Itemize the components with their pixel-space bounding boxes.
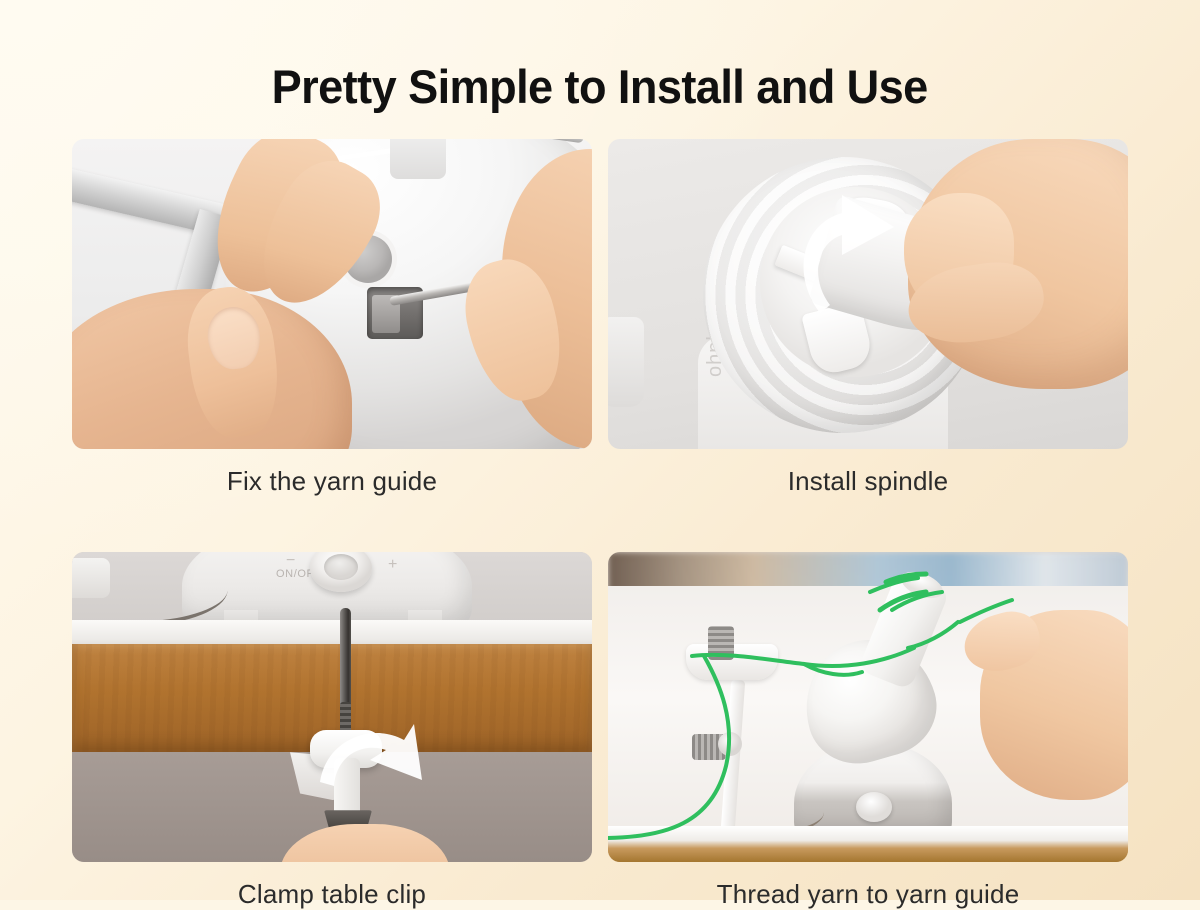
clamp-stem xyxy=(334,758,360,816)
table-surface xyxy=(608,826,1128,862)
steps-grid: Fix the yarn guide ohpho xyxy=(72,139,1128,910)
step-caption-1: Fix the yarn guide xyxy=(72,466,592,497)
step-card-2: ohpho Install spindle xyxy=(608,139,1128,497)
step-card-1: Fix the yarn guide xyxy=(72,139,592,497)
plus-label: + xyxy=(388,556,397,574)
yarn-guide-clip xyxy=(608,317,644,407)
photo-clamp-table-clip: − + ON/OFF xyxy=(72,552,592,862)
photo-install-spindle: ohpho xyxy=(608,139,1128,449)
speed-knob-inner xyxy=(324,554,358,580)
step-card-3: − + ON/OFF xyxy=(72,552,592,910)
yarn-guide-nut xyxy=(718,732,742,756)
photo-thread-yarn xyxy=(608,552,1128,862)
step-card-4: Thread yarn to yarn guide xyxy=(608,552,1128,910)
page-title-wrap: Pretty Simple to Install and Use xyxy=(0,62,1200,111)
step-caption-4: Thread yarn to yarn guide xyxy=(608,879,1128,910)
step-caption-3: Clamp table clip xyxy=(72,879,592,910)
promo-page: Pretty Simple to Install and Use xyxy=(0,0,1200,900)
yarn-guide-screw-top xyxy=(708,626,734,660)
photo-fix-yarn-guide xyxy=(72,139,592,449)
step-caption-2: Install spindle xyxy=(608,466,1128,497)
spindle-stem xyxy=(390,139,446,179)
winder-base-knob xyxy=(856,792,892,822)
page-title: Pretty Simple to Install and Use xyxy=(272,62,928,111)
